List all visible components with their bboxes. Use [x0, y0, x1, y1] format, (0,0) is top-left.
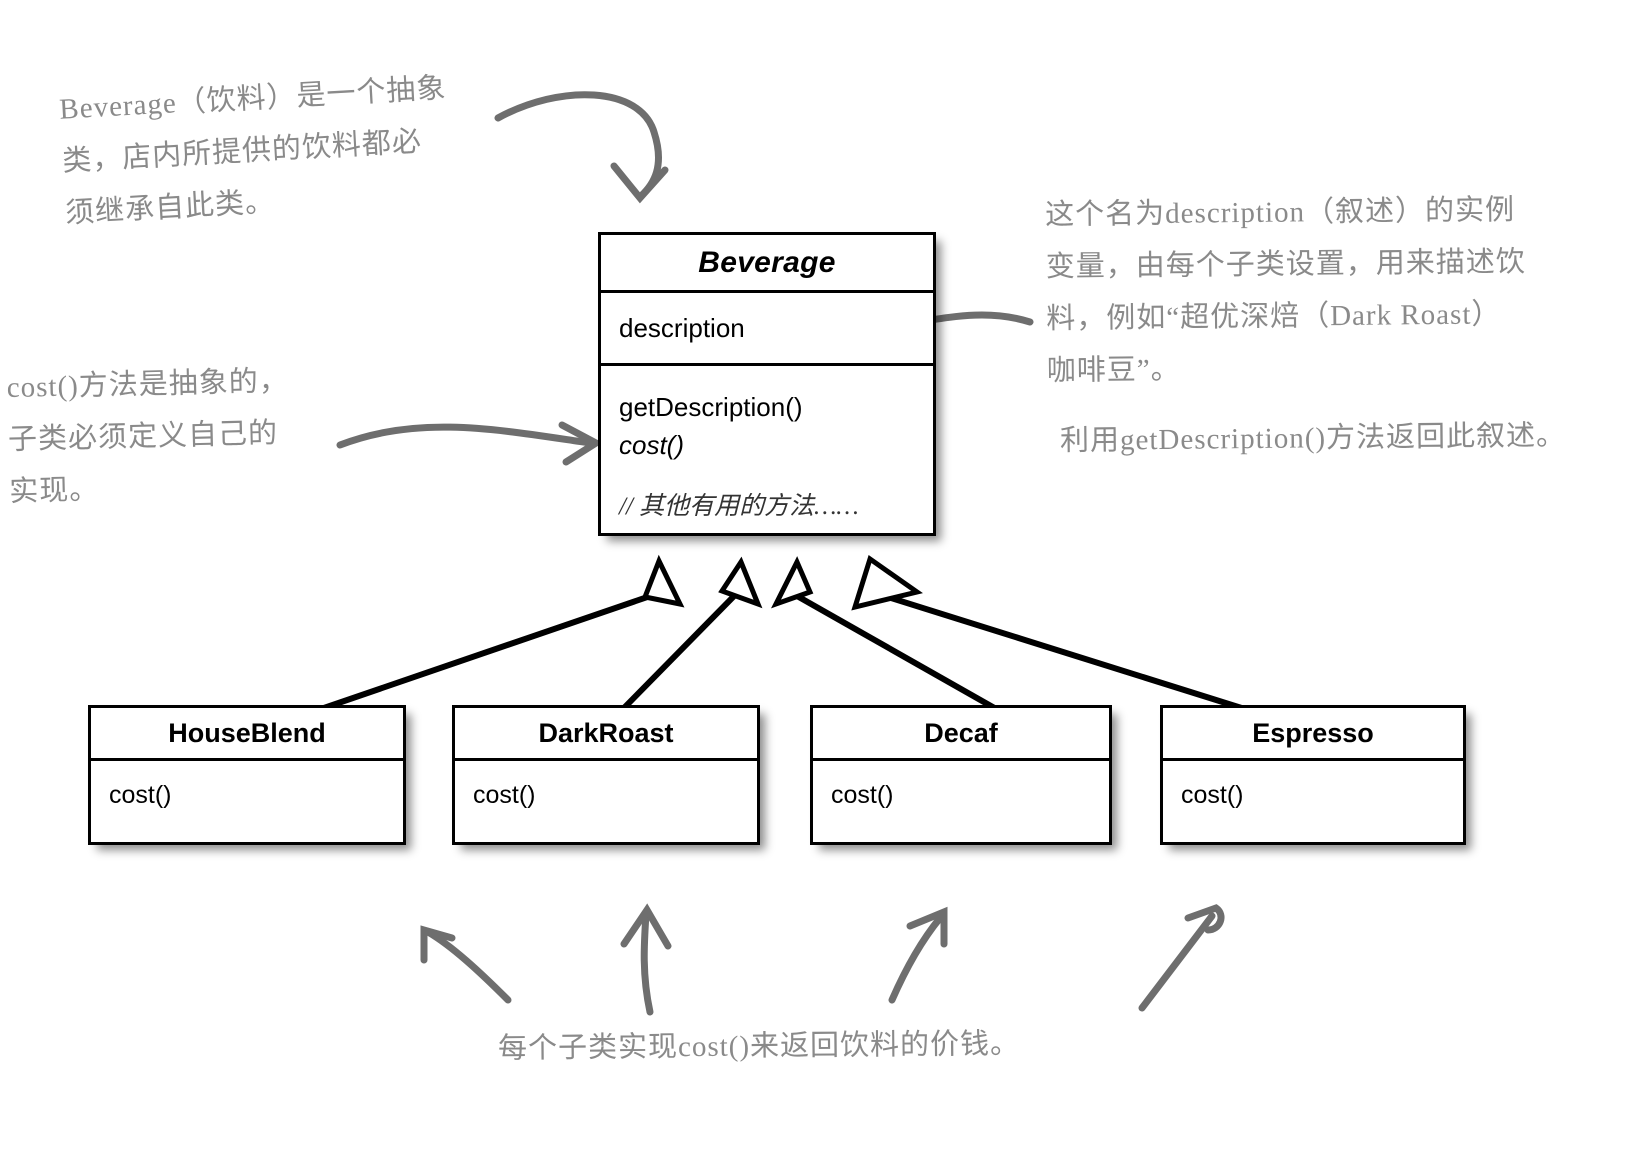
hollow-triangle-icon-1	[645, 561, 680, 604]
pointer-arrow-sub-1	[428, 932, 508, 1000]
operation-decaf-cost: cost()	[813, 761, 1109, 810]
pointer-arrow-sub-2	[644, 914, 650, 1012]
class-box-darkroast[interactable]: DarkRoast cost()	[452, 705, 760, 845]
inheritance-arrowheads	[645, 559, 917, 607]
class-name-beverage: Beverage	[601, 235, 933, 290]
operation-comment: // 其他有用的方法……	[619, 486, 933, 522]
annotation-right-lower: 利用getDescription()方法返回此叙述。	[1060, 409, 1638, 467]
pointer-arrow-left	[340, 427, 590, 445]
attribute-compartment: description	[601, 293, 933, 363]
operation-compartment: getDescription() cost() // 其他有用的方法……	[601, 366, 933, 522]
pointer-arrow-sub-3	[892, 918, 940, 1000]
operation-houseblend-cost: cost()	[91, 761, 403, 810]
operation-darkroast-cost: cost()	[455, 761, 757, 810]
class-name-houseblend: HouseBlend	[91, 708, 403, 758]
class-box-beverage[interactable]: Beverage description getDescription() co…	[598, 232, 936, 536]
class-box-espresso[interactable]: Espresso cost()	[1160, 705, 1466, 845]
pointer-arrow-sub-1-head	[424, 930, 452, 960]
pointer-arrow-top	[498, 95, 659, 196]
operation-get-description: getDescription()	[619, 388, 933, 426]
annotation-top-left: Beverage（饮料）是一个抽象 类，店内所提供的饮料都必 须继承自此类。	[58, 60, 486, 239]
annotation-left-middle: cost()方法是抽象的， 子类必须定义自己的 实现。	[6, 354, 340, 518]
diagram-canvas: Beverage description getDescription() co…	[0, 0, 1638, 1166]
class-box-houseblend[interactable]: HouseBlend cost()	[88, 705, 406, 845]
class-name-decaf: Decaf	[813, 708, 1109, 758]
pointer-arrow-sub-4	[1142, 916, 1212, 1008]
edge-decaf	[790, 592, 998, 710]
attribute-description: description	[619, 313, 745, 344]
class-name-darkroast: DarkRoast	[455, 708, 757, 758]
edge-houseblend	[318, 592, 662, 710]
pointer-arrow-top-head	[614, 166, 665, 198]
operation-espresso-cost: cost()	[1163, 761, 1463, 810]
hollow-triangle-icon-2	[722, 562, 758, 604]
class-box-decaf[interactable]: Decaf cost()	[810, 705, 1112, 845]
pointer-arrow-sub-3-head	[910, 912, 944, 944]
pointer-arrow-left-head	[562, 425, 596, 462]
edge-espresso	[872, 592, 1248, 710]
annotation-right-upper: 这个名为description（叙述）的实例 变量，由每个子类设置，用来描述饮 …	[1045, 183, 1637, 397]
edge-darkroast	[622, 592, 738, 710]
operation-cost-abstract: cost()	[619, 426, 933, 464]
hollow-triangle-icon-3	[776, 562, 810, 604]
pointer-arrow-sub-4-head	[1188, 908, 1221, 930]
pointer-arrow-sub-2-head	[624, 910, 668, 946]
annotation-bottom: 每个子类实现cost()来返回饮料的价钱。	[498, 1017, 1118, 1074]
hollow-triangle-icon-4	[855, 559, 917, 607]
class-name-espresso: Espresso	[1163, 708, 1463, 758]
generalization-edges	[318, 592, 1248, 710]
